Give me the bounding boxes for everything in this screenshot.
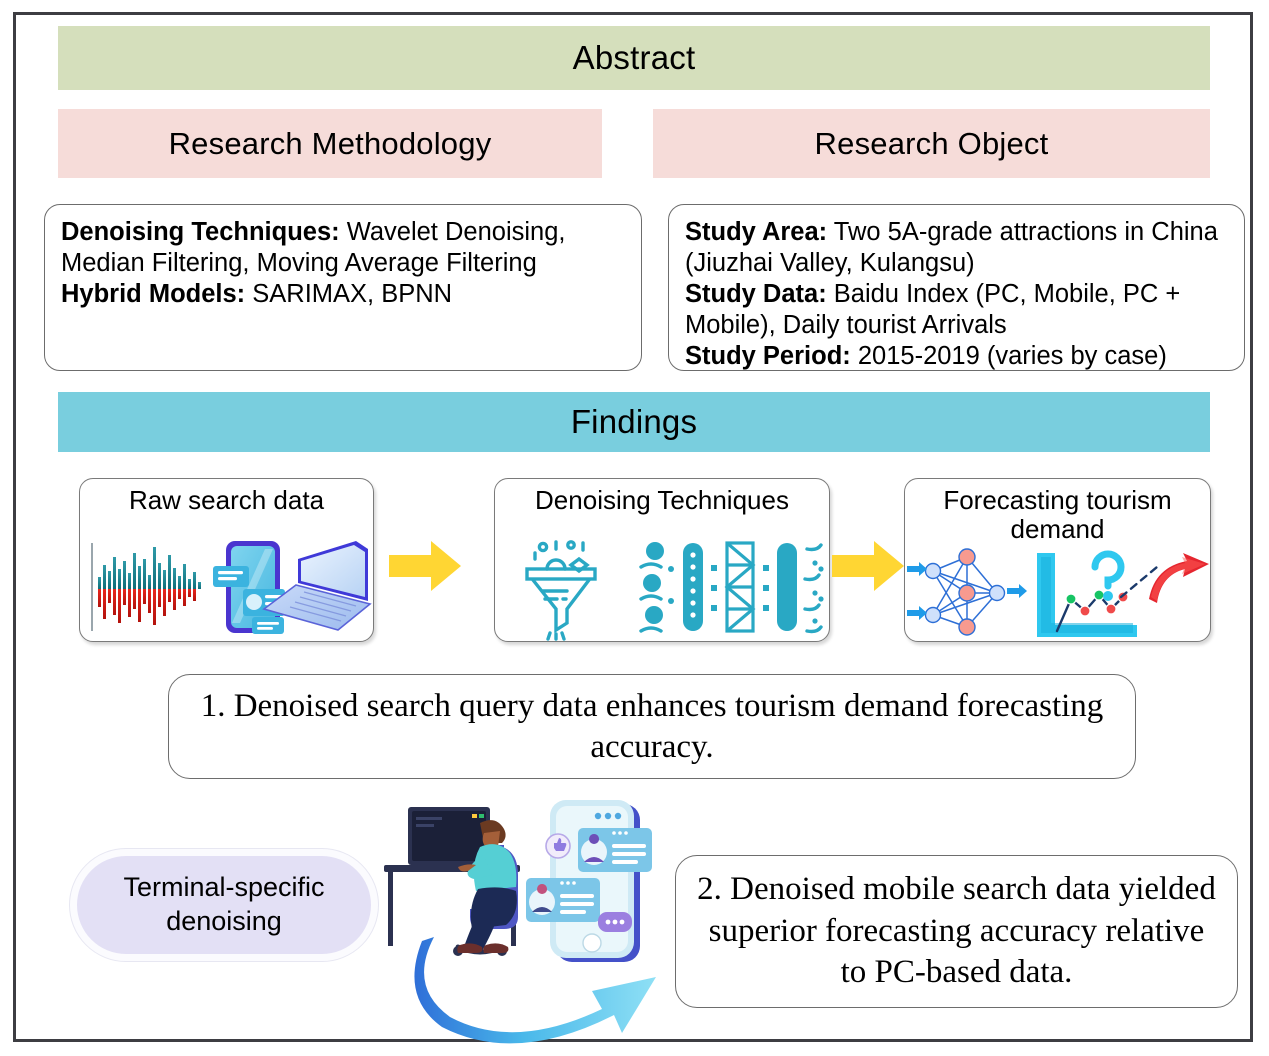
hybrid-models-line: Hybrid Models: SARIMAX, BPNN xyxy=(61,279,627,310)
hybrid-models-value: SARIMAX, BPNN xyxy=(245,280,452,308)
blue-curved-arrow-icon xyxy=(416,935,681,1045)
denoising-techniques-label: Denoising Techniques: xyxy=(61,218,340,246)
red-growth-arrow-icon xyxy=(1149,553,1209,603)
findings-banner: Findings xyxy=(58,392,1210,452)
research-methodology-banner: Research Methodology xyxy=(58,109,602,178)
denoising-techniques-line: Denoising Techniques: Wavelet Denoising,… xyxy=(61,217,627,279)
abstract-banner: Abstract xyxy=(58,26,1210,90)
step-denoising-techniques: Denoising Techniques xyxy=(494,478,830,642)
step-denoise-title: Denoising Techniques xyxy=(495,486,829,515)
study-data-label: Study Data: xyxy=(685,280,827,308)
study-area-line: Study Area: Two 5A-grade attractions in … xyxy=(685,217,1230,279)
research-object-card: Study Area: Two 5A-grade attractions in … xyxy=(668,204,1245,371)
methodology-card: Denoising Techniques: Wavelet Denoising,… xyxy=(44,204,642,371)
yellow-right-arrow-icon-1 xyxy=(389,537,461,595)
study-period-value: 2015-2019 (varies by case) xyxy=(851,342,1167,370)
research-object-banner: Research Object xyxy=(653,109,1210,178)
step-forecast-artwork xyxy=(905,553,1210,639)
line-chart-question-icon xyxy=(1037,553,1157,637)
mobile-phone-icon xyxy=(213,541,285,634)
step-denoise-artwork xyxy=(495,535,829,639)
study-data-line: Study Data: Baidu Index (PC, Mobile, PC … xyxy=(685,279,1230,341)
step-raw-artwork xyxy=(80,535,373,639)
study-area-label: Study Area: xyxy=(685,218,827,246)
step-forecast-title: Forecasting tourism demand xyxy=(905,486,1210,544)
finding-1: 1. Denoised search query data enhances t… xyxy=(168,674,1136,779)
study-period-line: Study Period: 2015-2019 (varies by case) xyxy=(685,341,1230,372)
step-raw-title: Raw search data xyxy=(80,486,373,515)
step-raw-search-data: Raw search data xyxy=(79,478,374,642)
finding-2: 2. Denoised mobile search data yielded s… xyxy=(675,855,1238,1008)
hybrid-models-label: Hybrid Models: xyxy=(61,280,245,308)
step-forecasting-tourism-demand: Forecasting tourism demand xyxy=(904,478,1211,642)
yellow-right-arrow-icon-2 xyxy=(832,537,904,595)
funnel-icon xyxy=(527,542,595,639)
terminal-pill-label: Terminal-specific denoising xyxy=(77,856,371,954)
poster-frame: Abstract Research Methodology Research O… xyxy=(13,12,1253,1042)
waveform-icon xyxy=(92,543,201,631)
sieve-filter-icon xyxy=(641,542,824,632)
terminal-specific-denoising-pill: Terminal-specific denoising xyxy=(69,848,379,962)
neural-network-icon xyxy=(907,549,1027,635)
study-period-label: Study Period: xyxy=(685,342,851,370)
